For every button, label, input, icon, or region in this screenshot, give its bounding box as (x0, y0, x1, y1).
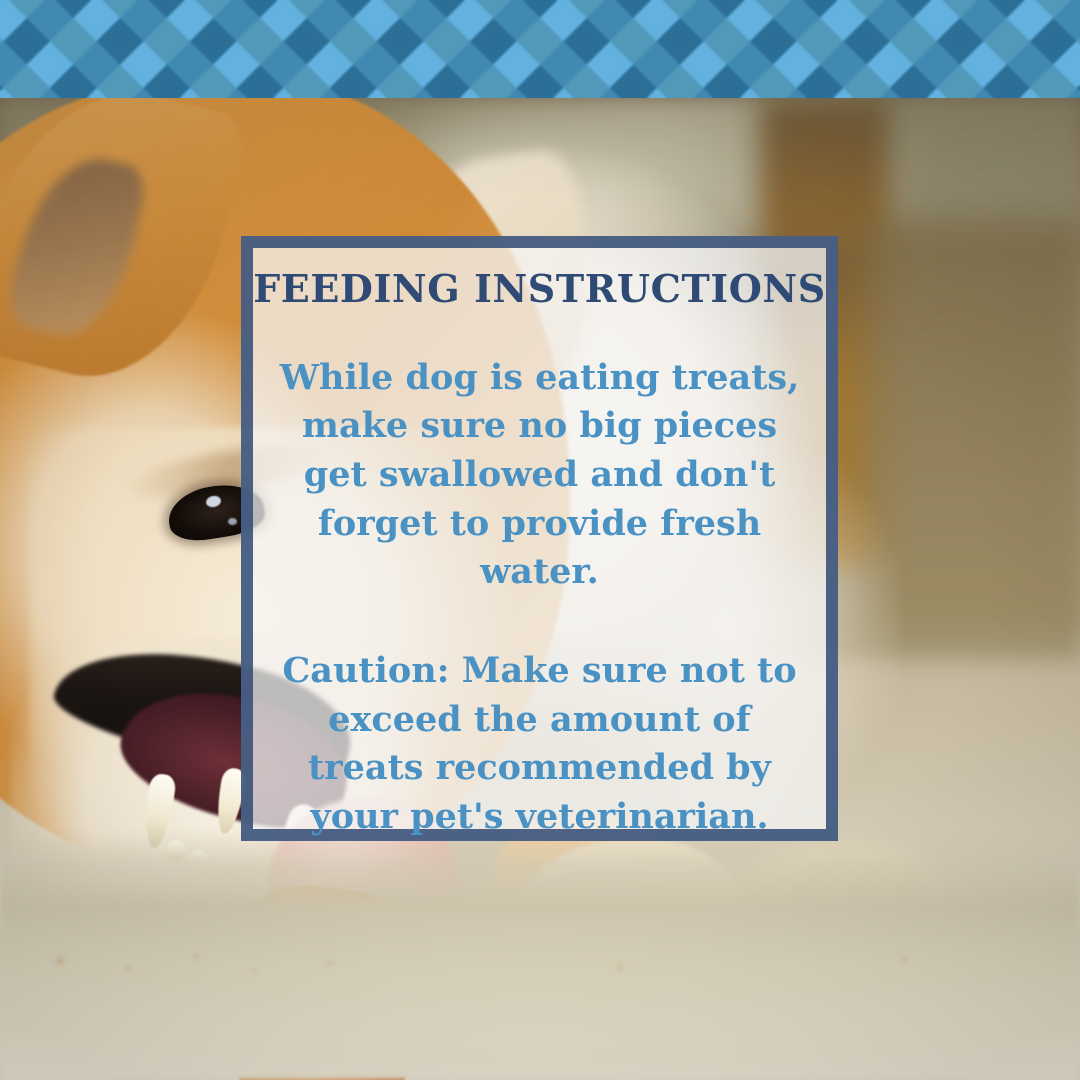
poster-canvas: FEEDING INSTRUCTIONS While dog is eating… (0, 0, 1080, 1080)
card-title: FEEDING INSTRUCTIONS (253, 268, 826, 310)
feeding-instructions-card: FEEDING INSTRUCTIONS While dog is eating… (241, 236, 838, 841)
card-content: FEEDING INSTRUCTIONS While dog is eating… (253, 248, 826, 829)
gingham-pattern (0, 0, 1080, 98)
treat-crumbs (0, 941, 1080, 985)
instruction-paragraph-2: Caution: Make sure not to exceed the amo… (267, 647, 812, 842)
gingham-banner (0, 0, 1080, 98)
dog-eye-glint-secondary (228, 518, 237, 525)
instruction-paragraph-1: While dog is eating treats, make sure no… (267, 354, 812, 597)
